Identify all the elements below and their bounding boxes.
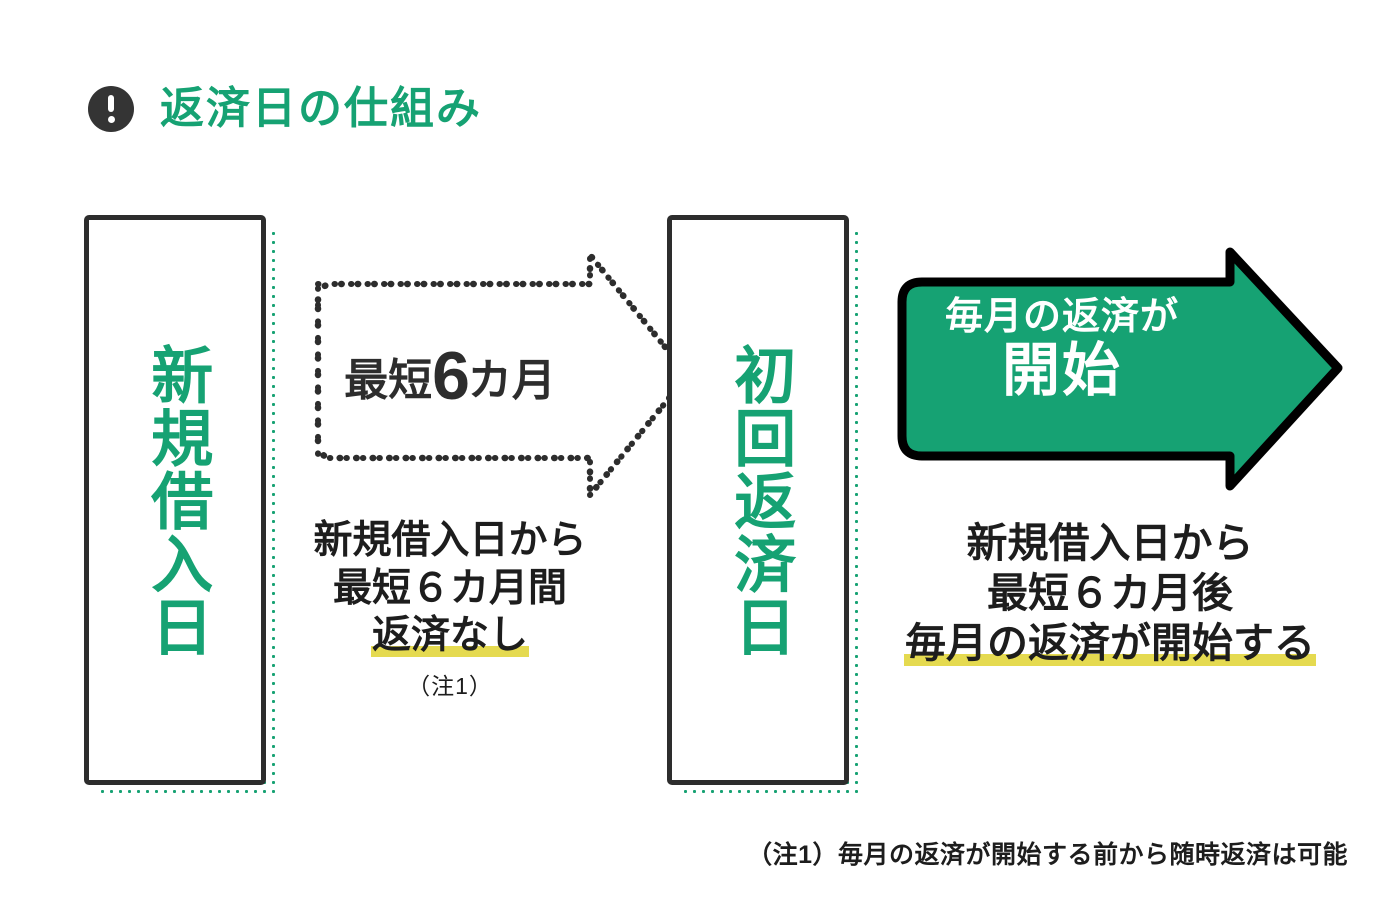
milestone-first-repayment-date: 初回返済日 xyxy=(667,215,849,785)
highlighted-text: 毎月の返済が開始する xyxy=(904,620,1316,666)
diagram-canvas: 返済日の仕組み 新規借入日 最短6カ月 初回返済日 毎月の返済が 開始 xyxy=(0,0,1400,915)
right-desc-line-2: 最短６カ月後 xyxy=(880,568,1340,618)
duration-number: 6 xyxy=(432,338,468,414)
milestone-label: 初回返済日 xyxy=(726,343,790,658)
diagram-header: 返済日の仕組み xyxy=(88,86,482,132)
monthly-repayment-arrow: 毎月の返済が 開始 xyxy=(872,240,1348,500)
green-arrow-line-2: 開始 xyxy=(892,342,1232,400)
duration-suffix: カ月 xyxy=(468,356,556,405)
milestone-box: 初回返済日 xyxy=(667,215,849,785)
left-desc-line-3: 返済なし xyxy=(300,612,600,660)
milestone-label: 新規借入日 xyxy=(143,343,207,658)
note-reference: （注1） xyxy=(300,672,600,700)
footnote: （注1）毎月の返済が開始する前から随時返済は可能 xyxy=(747,835,1348,871)
exclamation-circle-icon xyxy=(88,86,134,132)
left-desc-line-1: 新規借入日から xyxy=(300,517,600,565)
milestone-new-borrowing-date: 新規借入日 xyxy=(84,215,266,785)
right-desc-line-1: 新規借入日から xyxy=(880,518,1340,568)
duration-prefix: 最短 xyxy=(344,356,432,405)
milestone-box: 新規借入日 xyxy=(84,215,266,785)
right-description: 新規借入日から 最短６カ月後 毎月の返済が開始する xyxy=(880,518,1340,668)
highlighted-text: 返済なし xyxy=(371,614,529,657)
green-arrow-line-1: 毎月の返済が xyxy=(892,298,1232,336)
left-description: 新規借入日から 最短６カ月間 返済なし （注1） xyxy=(300,517,600,700)
right-desc-line-3: 毎月の返済が開始する xyxy=(880,618,1340,668)
dotted-duration-arrow: 最短6カ月 xyxy=(300,245,700,505)
page-title: 返済日の仕組み xyxy=(160,87,482,131)
green-arrow-text: 毎月の返済が 開始 xyxy=(892,298,1232,400)
left-desc-line-2: 最短６カ月間 xyxy=(300,565,600,613)
duration-caption: 最短6カ月 xyxy=(300,337,600,415)
